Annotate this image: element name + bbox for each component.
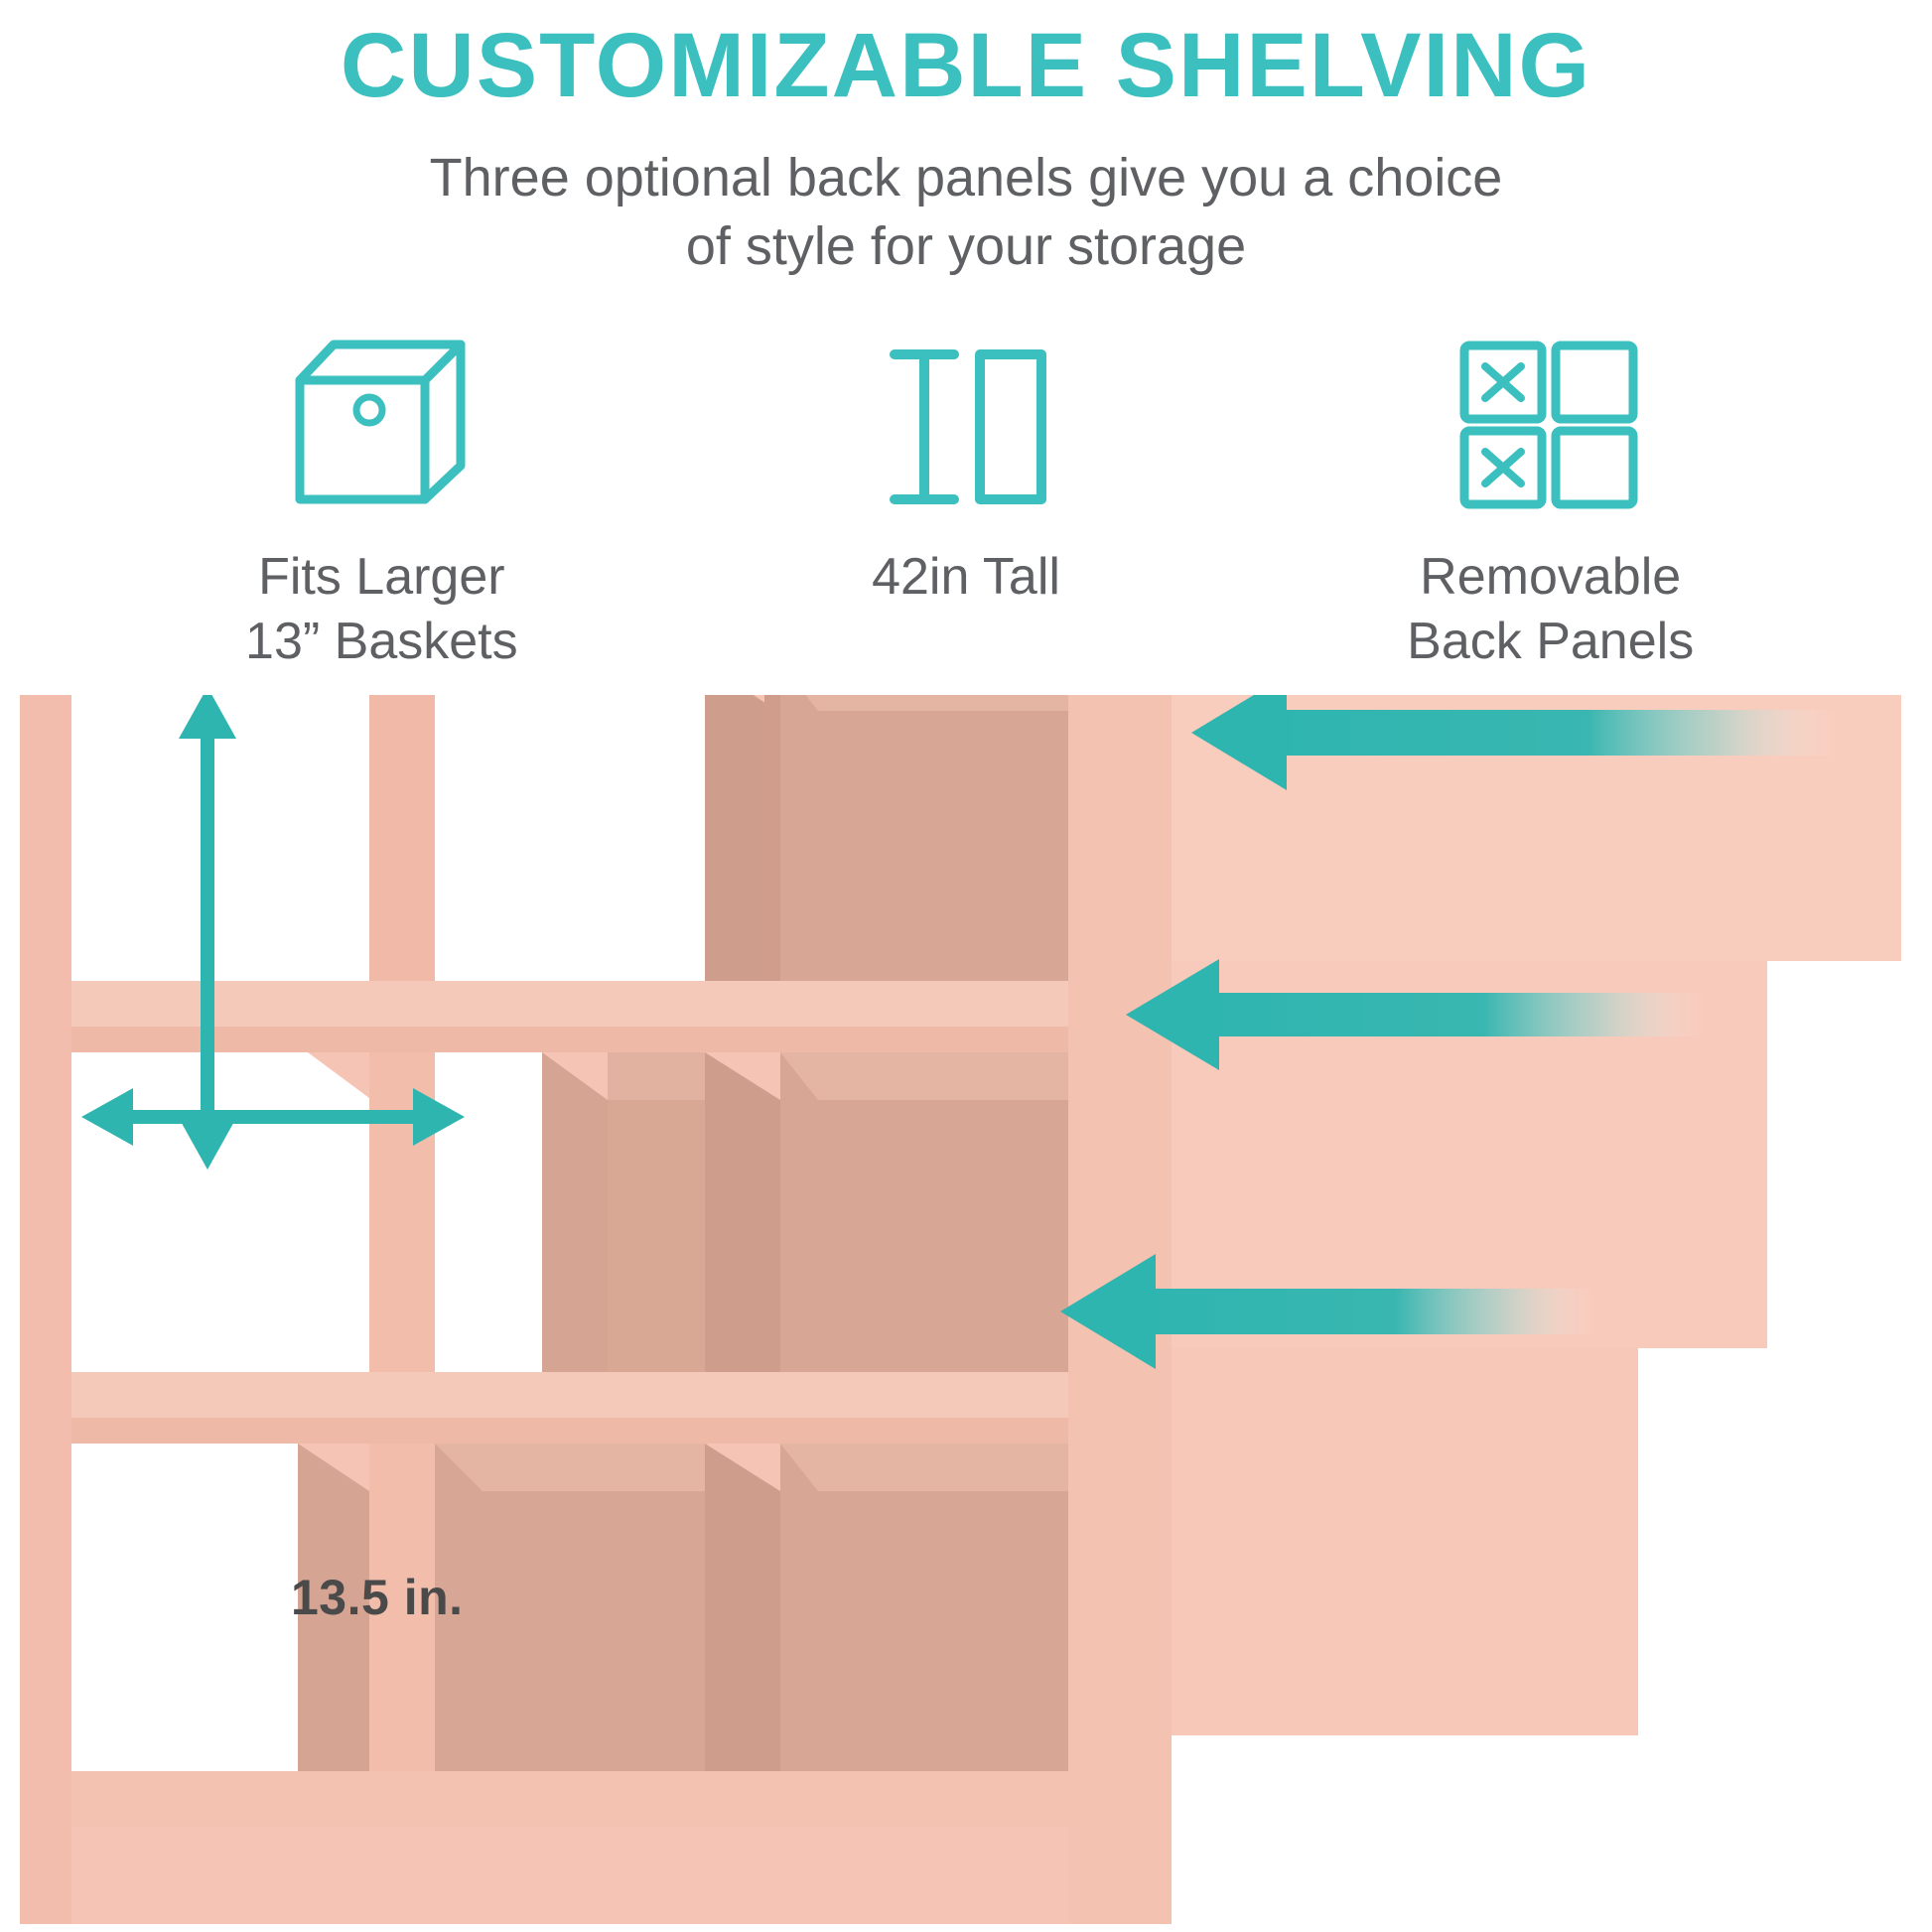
- shelf-board-1: [20, 981, 1132, 1027]
- cube-r3c3-panel: [780, 1444, 1068, 1771]
- cube-r2c1-open: [71, 1052, 308, 1372]
- feature-item-height: 42in Tall: [674, 323, 1259, 674]
- header: CUSTOMIZABLE SHELVING Three optional bac…: [0, 0, 1932, 281]
- page-title: CUSTOMIZABLE SHELVING: [0, 18, 1932, 114]
- feature-list: Fits Larger 13” Baskets 42in Tall: [0, 323, 1932, 674]
- height-measure-icon: [877, 323, 1055, 511]
- cube-r2c1-side: [308, 1052, 369, 1372]
- cube-r1c3-panel: [780, 695, 1068, 981]
- shelf-left-side: [20, 695, 71, 1924]
- cube-r2c3-panel: [780, 1052, 1068, 1372]
- shelf-board-2: [20, 1372, 1132, 1418]
- cube-r2c2-open: [435, 1052, 542, 1372]
- cube-r3c2-panel: [435, 1444, 705, 1771]
- feature-label-baskets: Fits Larger 13” Baskets: [245, 545, 518, 674]
- removable-panel-grid-icon: [1456, 323, 1645, 511]
- subtitle-line-2: of style for your storage: [0, 212, 1932, 281]
- cube-r1c3-top-inner: [780, 695, 1068, 711]
- storage-basket-icon: [282, 323, 481, 511]
- feature-item-baskets: Fits Larger 13” Baskets: [89, 323, 674, 674]
- cube-r2c2-panel: [608, 1052, 705, 1372]
- shelf-bottom-board: [20, 1771, 1132, 1827]
- dimension-label: 13.5 in.: [291, 1569, 464, 1626]
- cube-r1c2-open: [435, 695, 705, 981]
- cube-r2c2-side: [542, 1052, 608, 1372]
- product-illustration: 13.5 in.: [0, 695, 1932, 1932]
- page-subtitle: Three optional back panels give you a ch…: [0, 144, 1932, 281]
- feature-item-panels: Removable Back Panels: [1258, 323, 1843, 674]
- cube-r3c1-open: [71, 1444, 298, 1771]
- feature-label-panels: Removable Back Panels: [1407, 545, 1694, 674]
- feature-label-height: 42in Tall: [872, 545, 1060, 610]
- subtitle-line-1: Three optional back panels give you a ch…: [0, 144, 1932, 212]
